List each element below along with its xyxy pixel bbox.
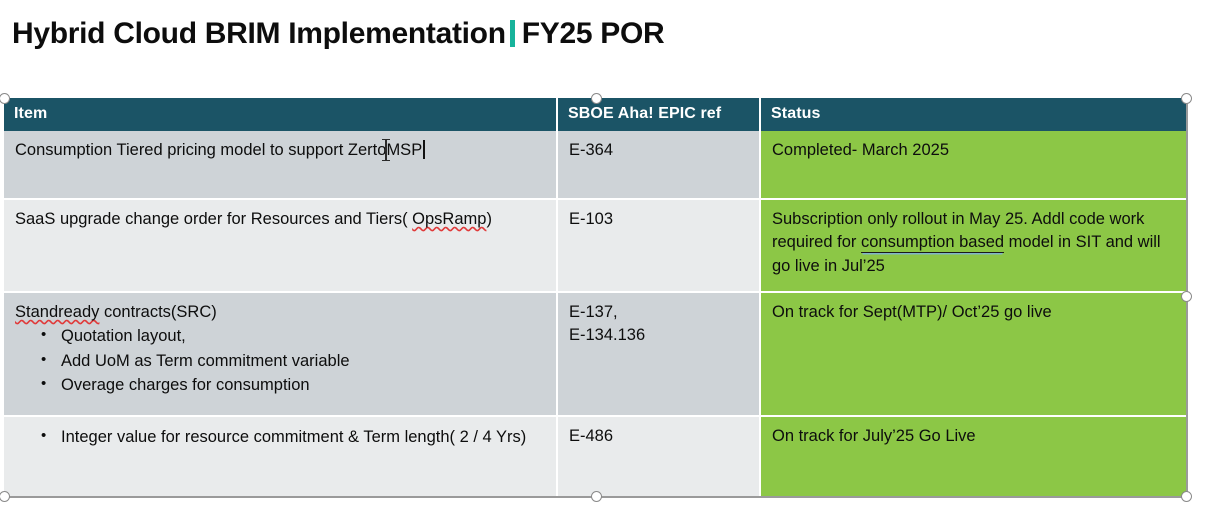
misspelled-word-standready: Standready bbox=[15, 303, 99, 321]
cell-item-3[interactable]: Standready contracts(SRC) Quotation layo… bbox=[4, 292, 557, 416]
title-separator-bar bbox=[510, 20, 515, 47]
misspelled-word-opsramp: OpsRamp bbox=[412, 210, 486, 228]
table-row[interactable]: Integer value for resource commitment & … bbox=[4, 416, 1186, 496]
cell-item-2[interactable]: SaaS upgrade change order for Resources … bbox=[4, 199, 557, 292]
item-4-bullet-list: Integer value for resource commitment & … bbox=[15, 426, 545, 449]
cell-item-1[interactable]: Consumption Tiered pricing model to supp… bbox=[4, 131, 557, 199]
item-3-heading: Standready contracts(SRC) bbox=[15, 301, 545, 324]
por-table-container[interactable]: Item SBOE Aha! EPIC ref Status Consumpti… bbox=[4, 98, 1186, 496]
cell-status-1[interactable]: Completed- March 2025 bbox=[760, 131, 1186, 199]
epic-3-line1: E-137, bbox=[569, 301, 748, 324]
cell-item-4[interactable]: Integer value for resource commitment & … bbox=[4, 416, 557, 496]
table-row[interactable]: Consumption Tiered pricing model to supp… bbox=[4, 131, 1186, 199]
item-3-heading-tail: contracts(SRC) bbox=[99, 303, 216, 321]
table-row[interactable]: SaaS upgrade change order for Resources … bbox=[4, 199, 1186, 292]
selection-handle-top-center[interactable] bbox=[591, 93, 602, 104]
item-text-1-post: MSP bbox=[386, 141, 422, 159]
item-text-2-line1: SaaS upgrade change order for Resources … bbox=[15, 210, 408, 228]
selection-handle-middle-right[interactable] bbox=[1181, 291, 1192, 302]
cell-epic-4[interactable]: E-486 bbox=[557, 416, 760, 496]
item-text-1-pre: Consumption Tiered pricing model to supp… bbox=[15, 141, 386, 159]
text-insertion-caret bbox=[423, 140, 425, 159]
page-title-right: FY25 POR bbox=[522, 17, 665, 51]
cell-epic-2[interactable]: E-103 bbox=[557, 199, 760, 292]
item-3-bullet-list: Quotation layout, Add UoM as Term commit… bbox=[15, 325, 545, 397]
cell-epic-3[interactable]: E-137, E-134.136 bbox=[557, 292, 760, 416]
grammar-underlined-phrase: consumption based bbox=[861, 233, 1004, 253]
cell-status-4[interactable]: On track for July’25 Go Live bbox=[760, 416, 1186, 496]
cell-epic-1[interactable]: E-364 bbox=[557, 131, 760, 199]
list-item: Quotation layout, bbox=[41, 325, 545, 348]
column-header-status[interactable]: Status bbox=[760, 98, 1186, 131]
selection-handle-bottom-right[interactable] bbox=[1181, 491, 1192, 502]
list-item: Add UoM as Term commitment variable bbox=[41, 350, 545, 373]
selection-handle-bottom-center[interactable] bbox=[591, 491, 602, 502]
epic-3-line2: E-134.136 bbox=[569, 324, 748, 347]
cell-status-3[interactable]: On track for Sept(MTP)/ Oct’25 go live bbox=[760, 292, 1186, 416]
cell-status-2[interactable]: Subscription only rollout in May 25. Add… bbox=[760, 199, 1186, 292]
table-body: Consumption Tiered pricing model to supp… bbox=[4, 131, 1186, 496]
column-header-epic[interactable]: SBOE Aha! EPIC ref bbox=[557, 98, 760, 131]
selection-handle-top-right[interactable] bbox=[1181, 93, 1192, 104]
list-item: Integer value for resource commitment & … bbox=[41, 426, 545, 449]
page-title-left: Hybrid Cloud BRIM Implementation bbox=[12, 17, 506, 51]
item-text-2-tail: ) bbox=[486, 210, 492, 228]
list-item: Overage charges for consumption bbox=[41, 374, 545, 397]
selection-handle-bottom-left[interactable] bbox=[0, 491, 10, 502]
table-row[interactable]: Standready contracts(SRC) Quotation layo… bbox=[4, 292, 1186, 416]
column-header-item[interactable]: Item bbox=[4, 98, 557, 131]
page-title: Hybrid Cloud BRIM Implementation FY25 PO… bbox=[12, 16, 664, 51]
por-table[interactable]: Item SBOE Aha! EPIC ref Status Consumpti… bbox=[4, 98, 1186, 496]
